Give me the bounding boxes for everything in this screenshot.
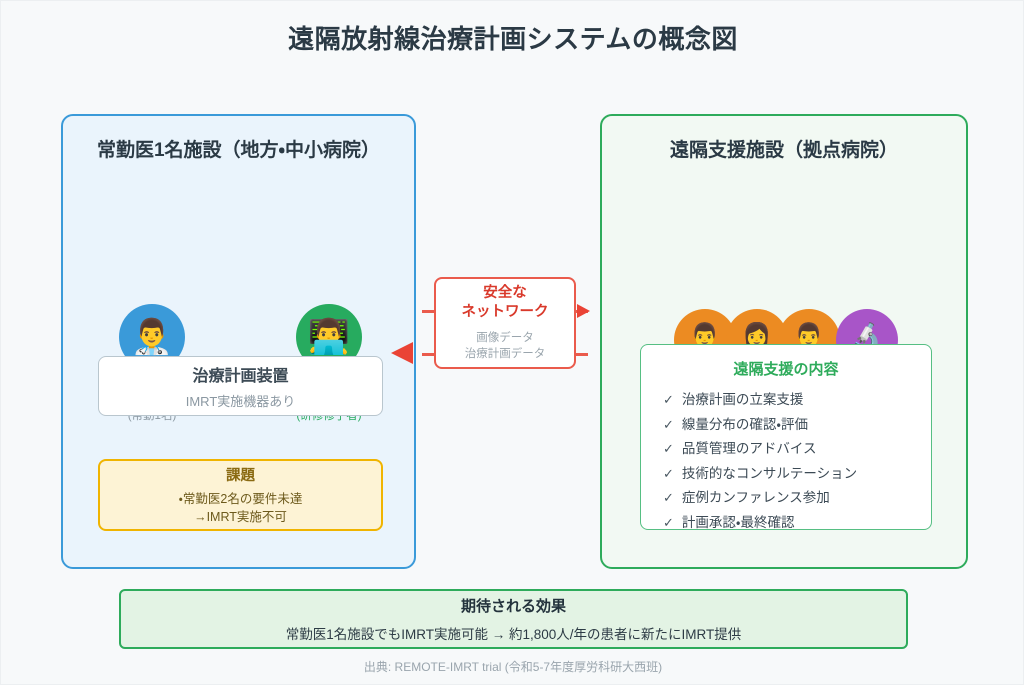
network-sub-line-1: 画像データ [476, 332, 534, 344]
check-icon: ✓ [663, 388, 674, 412]
secure-network-box: 安全な ネットワーク 画像データ 治療計画データ [434, 277, 576, 369]
page-title: 遠隔放射線治療計画システムの概念図 [1, 19, 1024, 56]
list-item: ✓技術的なコンサルテーション [663, 462, 931, 487]
arrow-left-icon [391, 342, 413, 364]
list-item: ✓計画承認・最終確認 [663, 511, 931, 536]
support-item-label: 症例カンファレンス参加 [682, 486, 830, 511]
list-item: ✓品質管理のアドバイス [663, 437, 931, 462]
device-box-title: 治療計画装置 [192, 362, 288, 386]
device-box-sub: IMRT実施機器あり [186, 391, 296, 410]
list-item: ✓治療計画の立案支援 [663, 388, 931, 413]
network-title-line-1: 安全な [483, 285, 527, 301]
check-icon: ✓ [663, 486, 674, 510]
network-sub-line-2: 治療計画データ [465, 348, 546, 360]
check-icon: ✓ [663, 437, 674, 461]
left-panel-heading: 常勤医1名施設（地方・中小病院） [63, 135, 414, 162]
list-item: ✓線量分布の確認・評価 [663, 413, 931, 438]
list-item: ✓症例カンファレンス参加 [663, 486, 931, 511]
source-note: 出典: REMOTE-IMRT trial (令和5-7年度厚労科研大西班) [1, 658, 1024, 675]
support-item-label: 品質管理のアドバイス [682, 437, 817, 462]
support-item-label: 技術的なコンサルテーション [682, 462, 857, 487]
support-item-label: 計画承認・最終確認 [682, 511, 795, 536]
diagram-canvas: 遠隔放射線治療計画システムの概念図 常勤医1名施設（地方・中小病院） 👨‍⚕️ … [0, 0, 1024, 685]
issue-box-line-2: →IMRT実施不可 [194, 508, 287, 526]
network-title-line-2: ネットワーク [462, 304, 549, 320]
network-stub-right-bottom [574, 353, 588, 356]
effect-description: 常勤医1名施設でもIMRT実施可能 → 約1,800人/年の患者に新たにIMRT… [286, 623, 742, 643]
check-icon: ✓ [663, 511, 674, 535]
issue-box: 課題 ・常勤医2名の要件未達 →IMRT実施不可 [98, 459, 383, 531]
support-content-box: 遠隔支援の内容 ✓治療計画の立案支援 ✓線量分布の確認・評価 ✓品質管理のアドバ… [640, 344, 932, 530]
issue-box-line-1: ・常勤医2名の要件未達 [179, 490, 303, 508]
treatment-planning-device-box: 治療計画装置 IMRT実施機器あり [98, 356, 383, 416]
support-item-label: 治療計画の立案支援 [682, 388, 804, 413]
check-icon: ✓ [663, 413, 674, 437]
left-facility-panel: 常勤医1名施設（地方・中小病院） 👨‍⚕️ 放射線治療医 (常勤1名) 👨‍💻 … [61, 114, 416, 569]
effect-title: 期待される効果 [461, 595, 566, 616]
right-support-panel: 遠隔支援施設（拠点病院） 👨‍⚕️ 👩‍⚕️ 👨‍⚕️ 🔬 放射線治療専門医チー… [600, 114, 968, 569]
check-icon: ✓ [663, 462, 674, 486]
support-item-label: 線量分布の確認・評価 [682, 413, 808, 438]
support-item-list: ✓治療計画の立案支援 ✓線量分布の確認・評価 ✓品質管理のアドバイス ✓技術的な… [641, 388, 931, 535]
expected-effect-banner: 期待される効果 常勤医1名施設でもIMRT実施可能 → 約1,800人/年の患者… [119, 589, 908, 649]
support-box-title: 遠隔支援の内容 [641, 358, 931, 379]
right-panel-heading: 遠隔支援施設（拠点病院） [602, 135, 966, 162]
arrow-right-icon [577, 304, 590, 318]
issue-box-title: 課題 [226, 464, 255, 485]
